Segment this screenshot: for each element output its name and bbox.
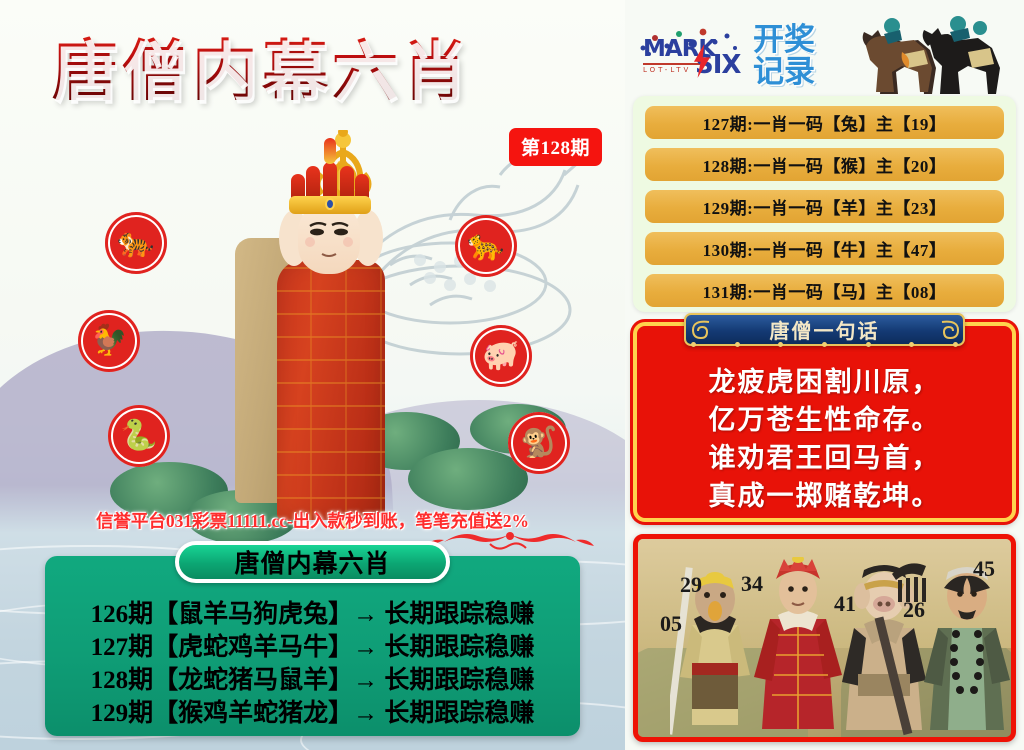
banner-dot	[909, 342, 914, 347]
banner-dot	[735, 342, 740, 347]
seal-glyph: 🐖	[482, 341, 519, 371]
lightning-bolt-icon	[691, 44, 713, 78]
tiger-seal-icon: 🐅	[105, 212, 167, 274]
crown-point	[340, 166, 354, 200]
robe-brick-pattern	[277, 260, 385, 520]
pig-seal-icon: 🐖	[470, 325, 532, 387]
record-pill[interactable]: 130期:一肖一码【牛】主【47】	[645, 232, 1004, 265]
six-zodiac-title: 唐僧内幕六肖	[175, 541, 450, 583]
tang-monk-figure	[748, 557, 848, 737]
record-pill[interactable]: 129期:一肖一码【羊】主【23】	[645, 190, 1004, 223]
list-item: 128期【龙蛇猪马鼠羊】→ 长期跟踪稳赚	[59, 664, 566, 697]
record-pill[interactable]: 127期:一肖一码【兔】主【19】	[645, 106, 1004, 139]
right-column: MARK LOT-LTV SIX 开奖 记录	[625, 0, 1024, 750]
rooster-seal-icon: 🐓	[78, 310, 140, 372]
six-zodiac-rows: 126期【鼠羊马狗虎兔】→ 长期跟踪稳赚 127期【虎蛇鸡羊马牛】→ 长期跟踪稳…	[45, 598, 580, 730]
banner-dot	[778, 342, 783, 347]
scroll-ornament-left-icon	[687, 317, 713, 343]
poem-line: 谁劝君王回马首，	[637, 440, 1012, 478]
poem-line: 真成一掷赌乾坤。	[637, 478, 1012, 516]
photo-number: 05	[660, 611, 682, 637]
photo-number: 26	[903, 597, 925, 623]
crown-point	[306, 166, 320, 200]
monkey-seal-icon: 🐒	[508, 412, 570, 474]
photo-number: 29	[680, 572, 702, 598]
seal-glyph: 🐓	[90, 326, 127, 356]
brand-header: MARK LOT-LTV SIX 开奖 记录	[635, 14, 1015, 92]
lottery-records-panel: 127期:一肖一码【兔】主【19】 128期:一肖一码【猴】主【20】 129期…	[633, 96, 1016, 312]
crown-point	[323, 162, 337, 200]
red-robe	[277, 260, 385, 520]
banner-dot	[866, 342, 871, 347]
horse-racing-icon	[840, 16, 1015, 96]
kaijiang-line-2: 记录	[753, 56, 835, 88]
record-pill[interactable]: 131期:一肖一码【马】主【08】	[645, 274, 1004, 307]
left-column: 🐅 🐓 🐍 🐆 🐖 🐒 唐僧内幕六肖 第128期 信誉平台031彩票11111.…	[0, 0, 625, 750]
poster-root: 🐅 🐓 🐍 🐆 🐖 🐒 唐僧内幕六肖 第128期 信誉平台031彩票11111.…	[0, 0, 1024, 750]
list-item: 127期【虎蛇鸡羊马牛】→ 长期跟踪稳赚	[59, 631, 566, 664]
six-zodiac-box: 126期【鼠羊马狗虎兔】→ 长期跟踪稳赚 127期【虎蛇鸡羊马牛】→ 长期跟踪稳…	[45, 556, 580, 736]
poem-line: 亿万苍生性命存。	[637, 402, 1012, 440]
crown-top-ornament	[324, 138, 336, 164]
seal-glyph: 🐒	[520, 428, 557, 458]
crown-gem	[325, 198, 335, 210]
record-pill[interactable]: 128期:一肖一码【猴】主【20】	[645, 148, 1004, 181]
tiger2-seal-icon: 🐆	[455, 215, 517, 277]
seal-glyph: 🐆	[467, 231, 504, 261]
monk-crown	[289, 162, 371, 214]
page-title: 唐僧内幕六肖	[52, 18, 572, 100]
photo-number: 45	[973, 556, 995, 582]
list-item: 126期【鼠羊马狗虎兔】→ 长期跟踪稳赚	[59, 598, 566, 631]
banner-dot-row	[691, 341, 958, 347]
sha-wujing-figure	[916, 562, 1016, 737]
photo-number: 41	[834, 591, 856, 617]
poem-box: 龙疲虎困割川原， 亿万苍生性命存。 谁劝君王回马首， 真成一掷赌乾坤。	[633, 322, 1016, 522]
seal-glyph: 🐍	[120, 421, 157, 451]
list-item: 129期【猴鸡羊蛇猪龙】→ 长期跟踪稳赚	[59, 697, 566, 730]
photo-number: 34	[741, 571, 763, 597]
issue-badge: 第128期	[509, 128, 602, 166]
kaijiang-line-1: 开奖	[753, 24, 835, 56]
scroll-ornament-right-icon	[938, 317, 964, 343]
banner-dot	[822, 342, 827, 347]
poem-line: 龙疲虎困割川原，	[637, 364, 1012, 402]
photo-scene	[638, 539, 1011, 737]
seal-glyph: 🐅	[117, 228, 154, 258]
journey-to-the-west-photo: 05 29 34 41 26 45	[633, 534, 1016, 742]
marksix-logo: MARK LOT-LTV SIX	[643, 36, 753, 84]
poem-lines: 龙疲虎困割川原， 亿万苍生性命存。 谁劝君王回马首， 真成一掷赌乾坤。	[637, 364, 1012, 516]
kaijiang-jilu-title: 开奖 记录	[753, 24, 835, 90]
monk-figure	[225, 140, 405, 520]
snake-seal-icon: 🐍	[108, 405, 170, 467]
lotus-leaf	[408, 448, 528, 510]
